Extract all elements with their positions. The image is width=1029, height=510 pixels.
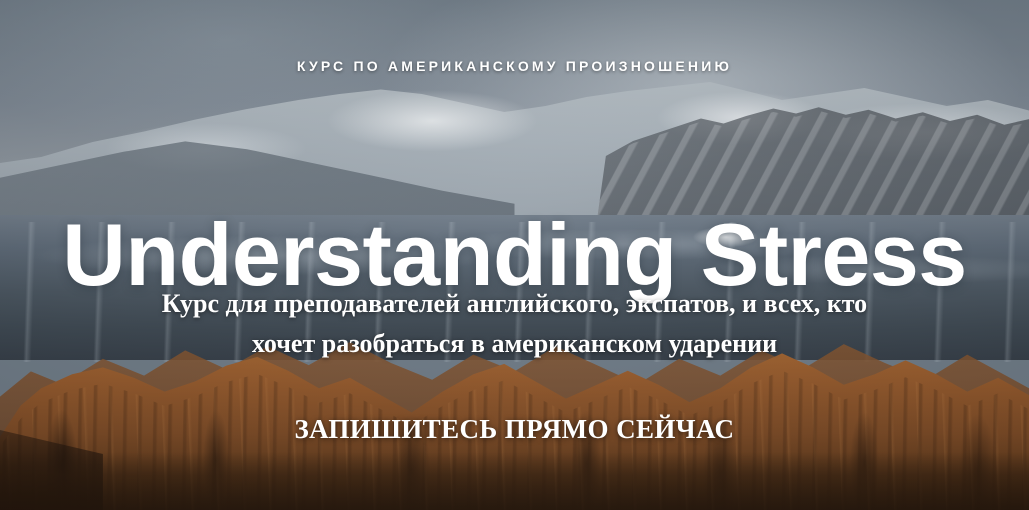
hero-content: КУРС ПО АМЕРИКАНСКОМУ ПРОИЗНОШЕНИЮ Under… — [0, 0, 1029, 510]
hero-banner: КУРС ПО АМЕРИКАНСКОМУ ПРОИЗНОШЕНИЮ Under… — [0, 0, 1029, 510]
hero-description-line-1: Курс для преподавателей английского, экс… — [120, 284, 910, 324]
hero-description-line-2: хочет разобраться в американском ударени… — [120, 324, 910, 364]
course-eyebrow-label: КУРС ПО АМЕРИКАНСКОМУ ПРОИЗНОШЕНИЮ — [0, 57, 1029, 75]
hero-description: Курс для преподавателей английского, экс… — [120, 284, 910, 364]
enroll-now-cta[interactable]: ЗАПИШИТЕСЬ ПРЯМО СЕЙЧАС — [0, 412, 1029, 446]
